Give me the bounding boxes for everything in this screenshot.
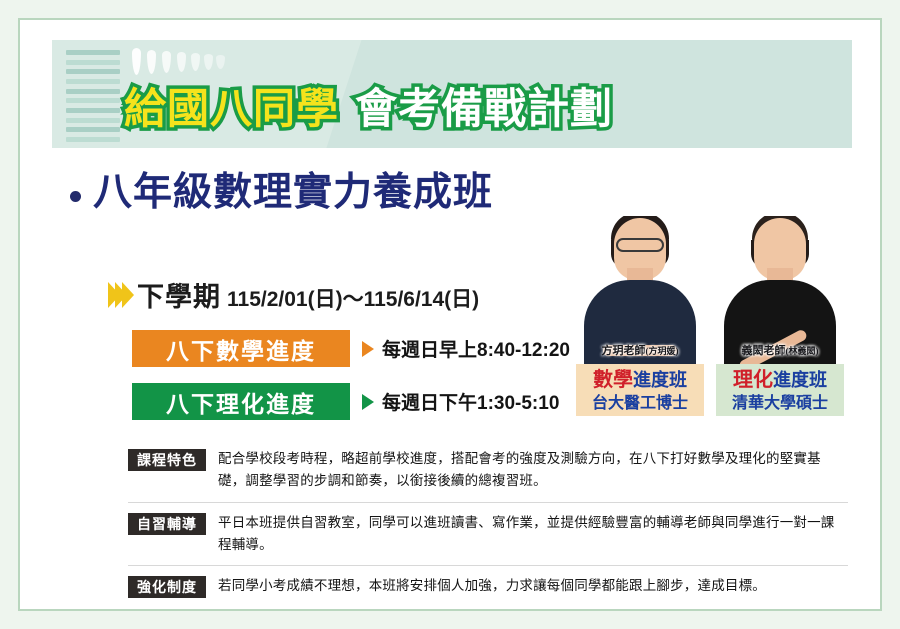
page-title-text: 八年級數理實力養成班: [93, 172, 493, 215]
teacher-credential-math: 台大醫工博士: [576, 394, 704, 415]
teacher-name-math: 方玥老師(方玥媛): [576, 342, 704, 358]
teacher-portrait-icon: 義閎老師(林義閎): [716, 216, 844, 364]
schedule-badge-science: 八下理化進度: [132, 383, 350, 420]
teacher-credential-science: 清華大學碩士: [716, 394, 844, 415]
poster-frame: 給國八同學會考備戰計劃 八年級數理實力養成班 下學期 115/2/01(日)～1…: [18, 18, 882, 611]
schedule-row-science: 八下理化進度 每週日下午1:30-5:10: [132, 383, 559, 420]
page-title: 八年級數理實力養成班: [70, 172, 493, 215]
feature-text: 平日本班提供自習教室，同學可以進班讀書、寫作業，並提供經驗豐富的輔導老師與同學進…: [218, 512, 848, 557]
teacher-cards: 方玥老師(方玥媛) 數學進度班 台大醫工博士 義閎老師(林義閎): [576, 216, 844, 416]
schedule-time-math: 每週日早上8:40-12:20: [382, 335, 570, 362]
petal-dots-icon: [132, 46, 252, 76]
teacher-card-science: 義閎老師(林義閎) 理化進度班 清華大學碩士: [716, 216, 844, 416]
triple-chevron-right-icon: [108, 282, 129, 308]
teacher-subject-science: 理化進度班: [716, 367, 844, 394]
feature-list: 課程特色 配合學校段考時程，略超前學校進度，搭配會考的強度及測驗方向，在八下打好…: [128, 448, 848, 616]
teacher-subject-box-math: 數學進度班 台大醫工博士: [576, 364, 704, 416]
schedule-row-math: 八下數學進度 每週日早上8:40-12:20: [132, 330, 570, 367]
semester-row: 下學期 115/2/01(日)～115/6/14(日): [108, 275, 479, 314]
feature-badge: 強化制度: [128, 576, 206, 598]
teacher-subject-math: 數學進度班: [576, 367, 704, 394]
bullet-dot-icon: [70, 191, 81, 202]
banner-title: 給國八同學會考備戰計劃: [124, 88, 613, 130]
semester-label: 下學期: [137, 275, 221, 314]
poster-root: 給國八同學會考備戰計劃 八年級數理實力養成班 下學期 115/2/01(日)～1…: [0, 0, 900, 629]
feature-badge: 課程特色: [128, 449, 206, 471]
play-triangle-icon: [362, 341, 374, 357]
glasses-icon: [616, 238, 664, 252]
header-banner: 給國八同學會考備戰計劃: [52, 40, 852, 148]
schedule-time-science: 每週日下午1:30-5:10: [382, 388, 559, 415]
banner-title-part1: 給國八同學: [124, 85, 339, 132]
feature-item: 強化制度 若同學小考成績不理想，本班將安排個人加強，力求讓每個同學都能跟上腳步，…: [128, 575, 848, 607]
feature-item: 自習輔導 平日本班提供自習教室，同學可以進班讀書、寫作業，並提供經驗豐富的輔導老…: [128, 512, 848, 567]
feature-badge: 自習輔導: [128, 513, 206, 535]
feature-text: 若同學小考成績不理想，本班將安排個人加強，力求讓每個同學都能跟上腳步，達成目標。: [218, 575, 766, 597]
teacher-card-math: 方玥老師(方玥媛) 數學進度班 台大醫工博士: [576, 216, 704, 416]
stripe-bars-icon: [66, 50, 120, 142]
semester-dates: 115/2/01(日)～115/6/14(日): [227, 283, 479, 313]
teacher-subject-box-science: 理化進度班 清華大學碩士: [716, 364, 844, 416]
feature-text: 配合學校段考時程，略超前學校進度，搭配會考的強度及測驗方向，在八下打好數學及理化…: [218, 448, 848, 493]
feature-item: 課程特色 配合學校段考時程，略超前學校進度，搭配會考的強度及測驗方向，在八下打好…: [128, 448, 848, 503]
banner-title-part2: 會考備戰計劃: [355, 85, 613, 132]
play-triangle-icon: [362, 394, 374, 410]
teacher-name-science: 義閎老師(林義閎): [716, 342, 844, 358]
schedule-badge-math: 八下數學進度: [132, 330, 350, 367]
teacher-portrait-icon: 方玥老師(方玥媛): [576, 216, 704, 364]
